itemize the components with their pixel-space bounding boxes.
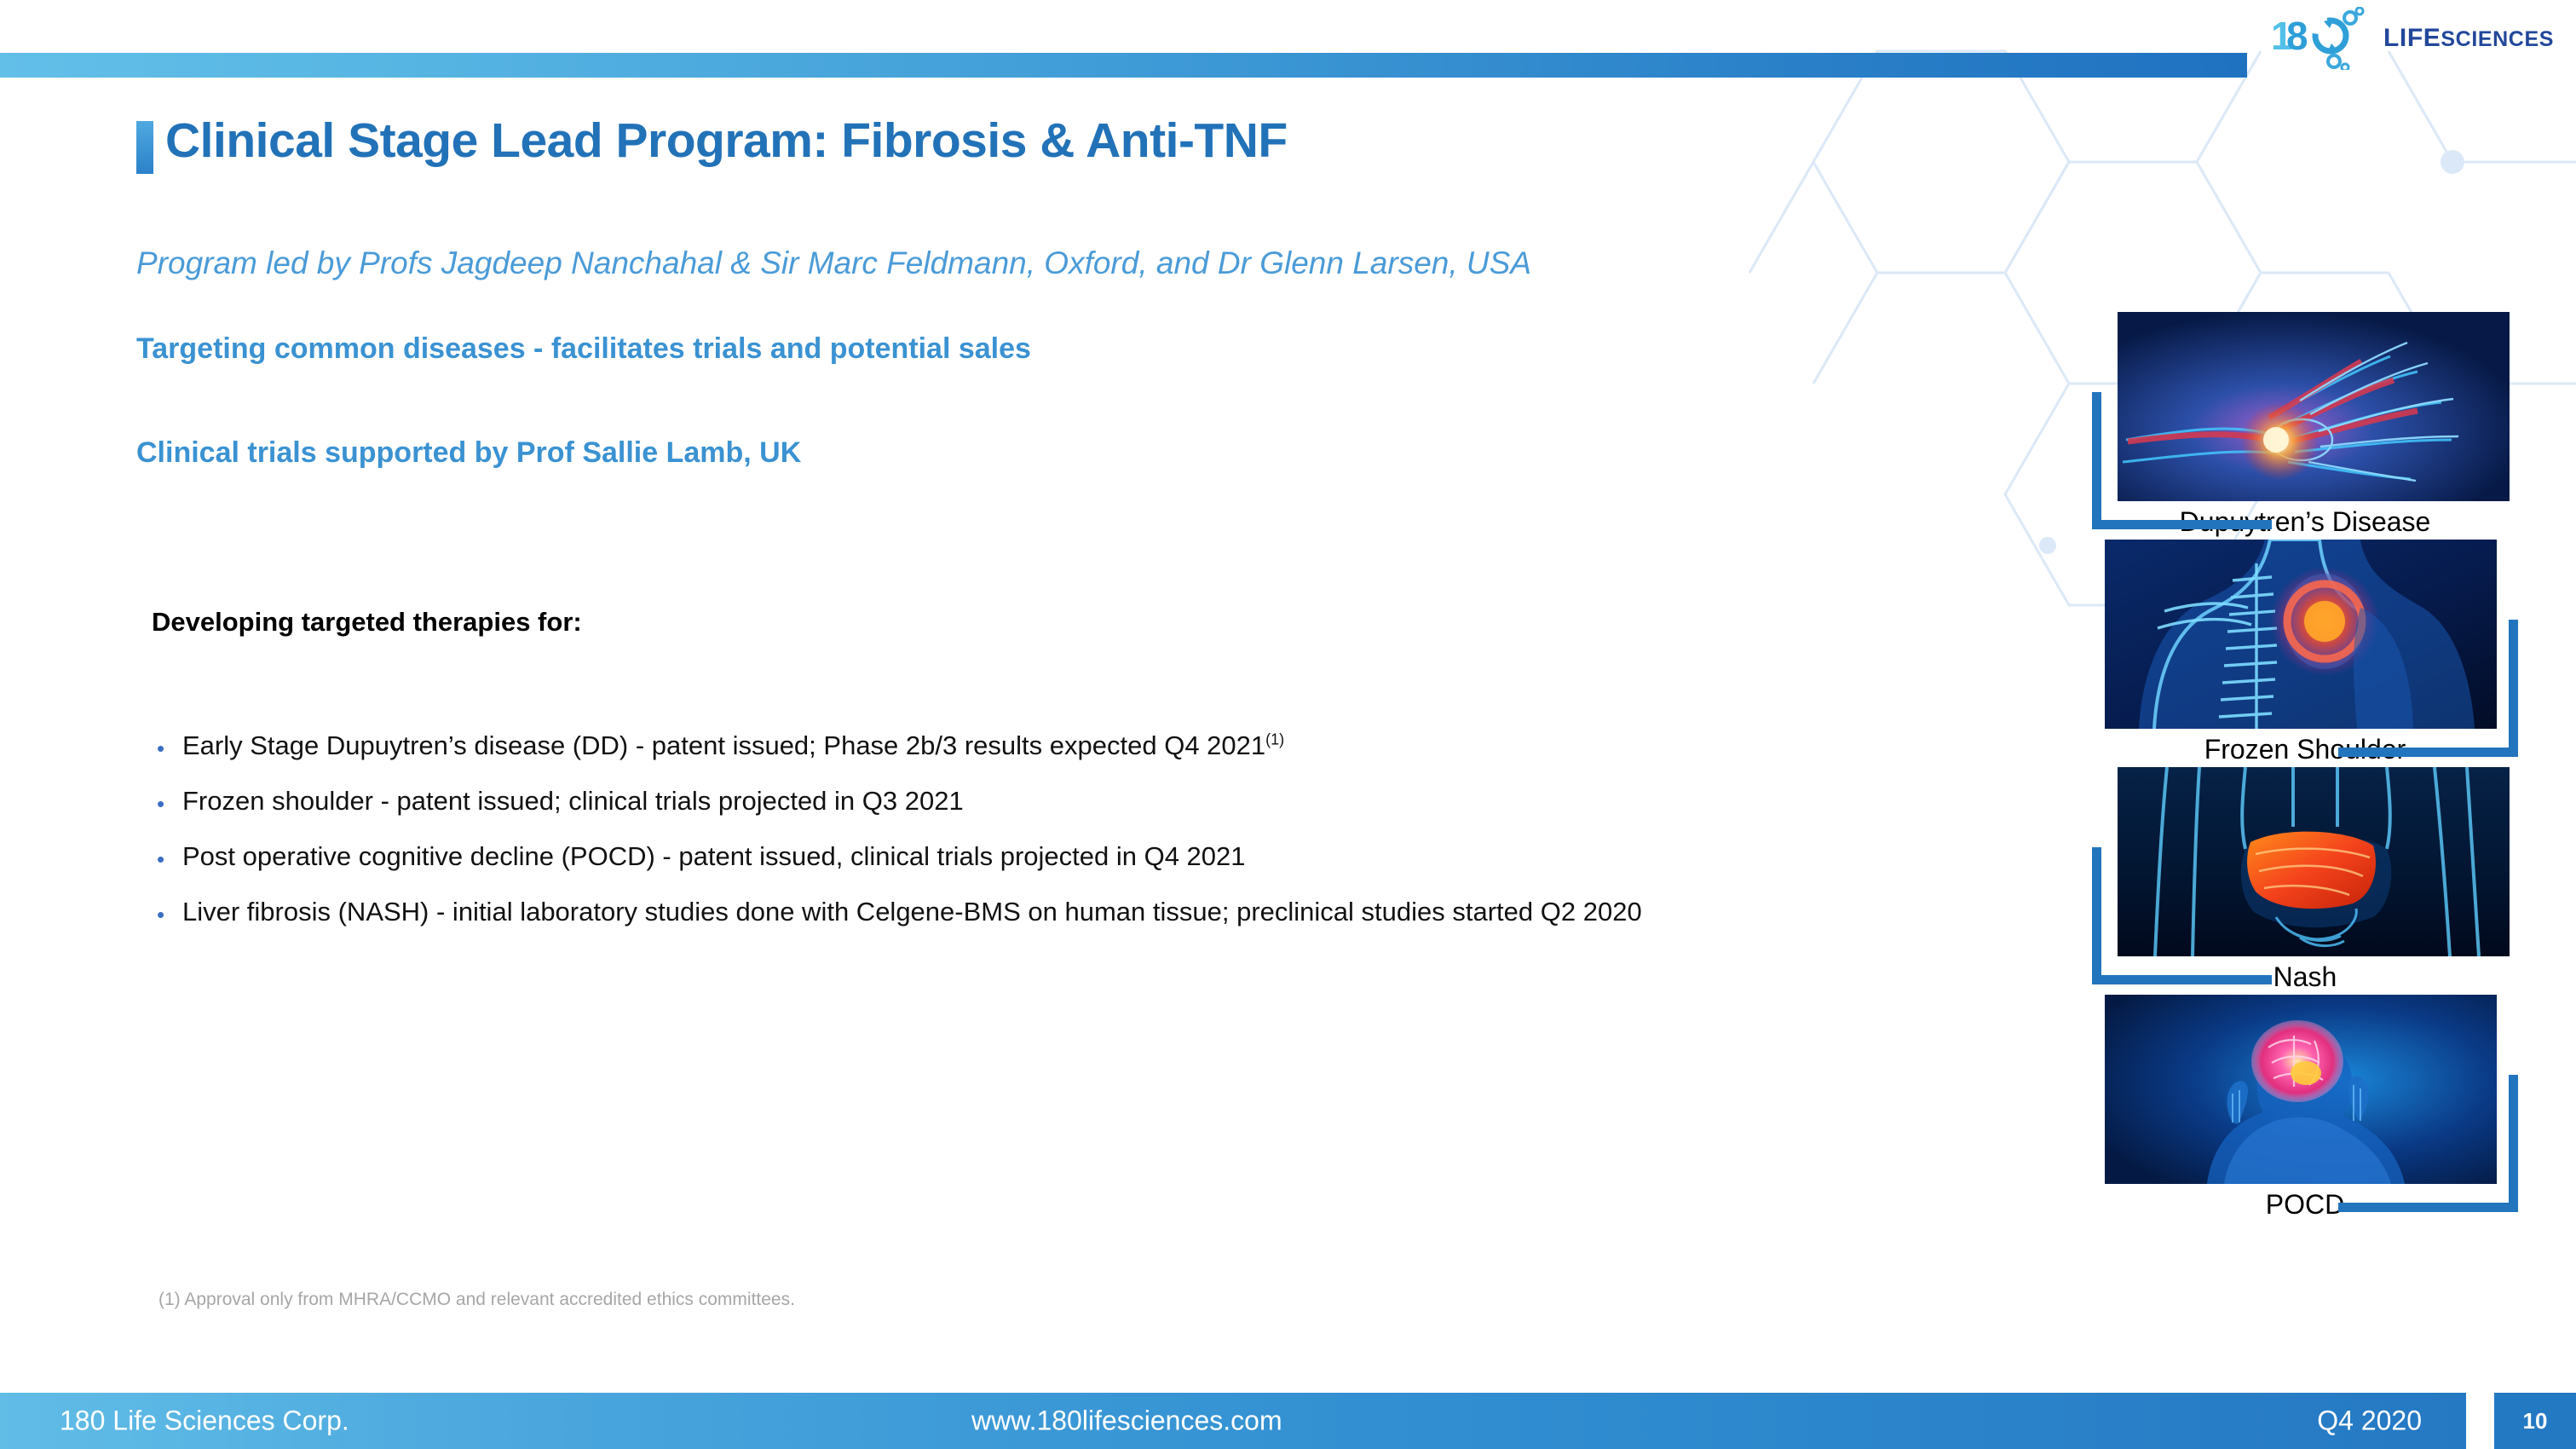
logo-wordmark: LIFESCIENCES	[2383, 24, 2554, 53]
logo-word-life: LIFE	[2383, 24, 2441, 52]
list-item-body: Frozen shoulder - patent issued; clinica…	[182, 786, 964, 816]
list-item-body: Post operative cognitive decline (POCD) …	[182, 841, 1246, 871]
logo-word-sciences: SCIENCES	[2441, 27, 2554, 51]
list-item-body: Early Stage Dupuytren’s disease (DD) - p…	[182, 730, 1265, 760]
lead-line-targeting: Targeting common diseases - facilitates …	[136, 332, 1031, 366]
list-item: • Frozen shoulder - patent issued; clini…	[145, 784, 2003, 823]
bracket-decoration-right	[2338, 620, 2518, 757]
svg-text:8: 8	[2286, 14, 2308, 58]
disease-card-frozen-shoulder: Frozen Shoulder	[2092, 540, 2518, 765]
footnote-text: (1) Approval only from MHRA/CCMO and rel…	[158, 1290, 795, 1310]
disease-card-dupuytrens: Dupuytren’s Disease	[2092, 312, 2518, 538]
footer-website-link[interactable]: www.180lifesciences.com	[971, 1406, 1282, 1437]
body-heading: Developing targeted therapies for:	[152, 607, 582, 638]
list-item-text: Frozen shoulder - patent issued; clinica…	[182, 784, 964, 818]
brand-logo: 1 8 LIFESCIENCES	[2271, 7, 2554, 70]
lead-line-trials-support: Clinical trials supported by Prof Sallie…	[136, 436, 801, 470]
disease-card-nash: Nash	[2092, 767, 2518, 993]
program-subtitle: Program led by Profs Jagdeep Nanchahal &…	[136, 245, 1531, 281]
bracket-decoration-left	[2092, 392, 2272, 529]
top-accent-bar	[0, 53, 2247, 78]
list-item: • Post operative cognitive decline (POCD…	[145, 840, 2003, 879]
list-item-text: Liver fibrosis (NASH) - initial laborato…	[182, 895, 1642, 929]
bullet-icon: •	[145, 895, 182, 934]
page-number-badge: 10	[2494, 1393, 2576, 1449]
list-item-body: Liver fibrosis (NASH) - initial laborato…	[182, 897, 1642, 927]
list-item: • Early Stage Dupuytren’s disease (DD) -…	[145, 729, 2003, 768]
disease-image-column: Dupuytren’s Disease	[2092, 312, 2518, 1222]
bullet-icon: •	[145, 840, 182, 879]
slide-footer: 180 Life Sciences Corp. www.180lifescien…	[0, 1393, 2466, 1449]
disease-card-pocd: POCD	[2092, 995, 2518, 1221]
bullet-icon: •	[145, 729, 182, 768]
list-item-text: Early Stage Dupuytren’s disease (DD) - p…	[182, 729, 1284, 763]
page-title-row: Clinical Stage Lead Program: Fibrosis & …	[136, 116, 1288, 174]
therapy-bullet-list: • Early Stage Dupuytren’s disease (DD) -…	[145, 729, 2003, 950]
180-circular-logo-icon: 1 8	[2271, 7, 2371, 70]
bullet-icon: •	[145, 784, 182, 823]
footer-period: Q4 2020	[2317, 1406, 2422, 1437]
page-title: Clinical Stage Lead Program: Fibrosis & …	[165, 116, 1288, 167]
list-item-text: Post operative cognitive decline (POCD) …	[182, 840, 1246, 874]
bracket-decoration-left	[2092, 847, 2272, 984]
footer-company-name: 180 Life Sciences Corp.	[60, 1406, 349, 1437]
bracket-decoration-right	[2338, 1075, 2518, 1212]
list-item: • Liver fibrosis (NASH) - initial labora…	[145, 895, 2003, 934]
title-accent-bar	[136, 121, 153, 174]
footnote-marker: (1)	[1265, 731, 1284, 748]
